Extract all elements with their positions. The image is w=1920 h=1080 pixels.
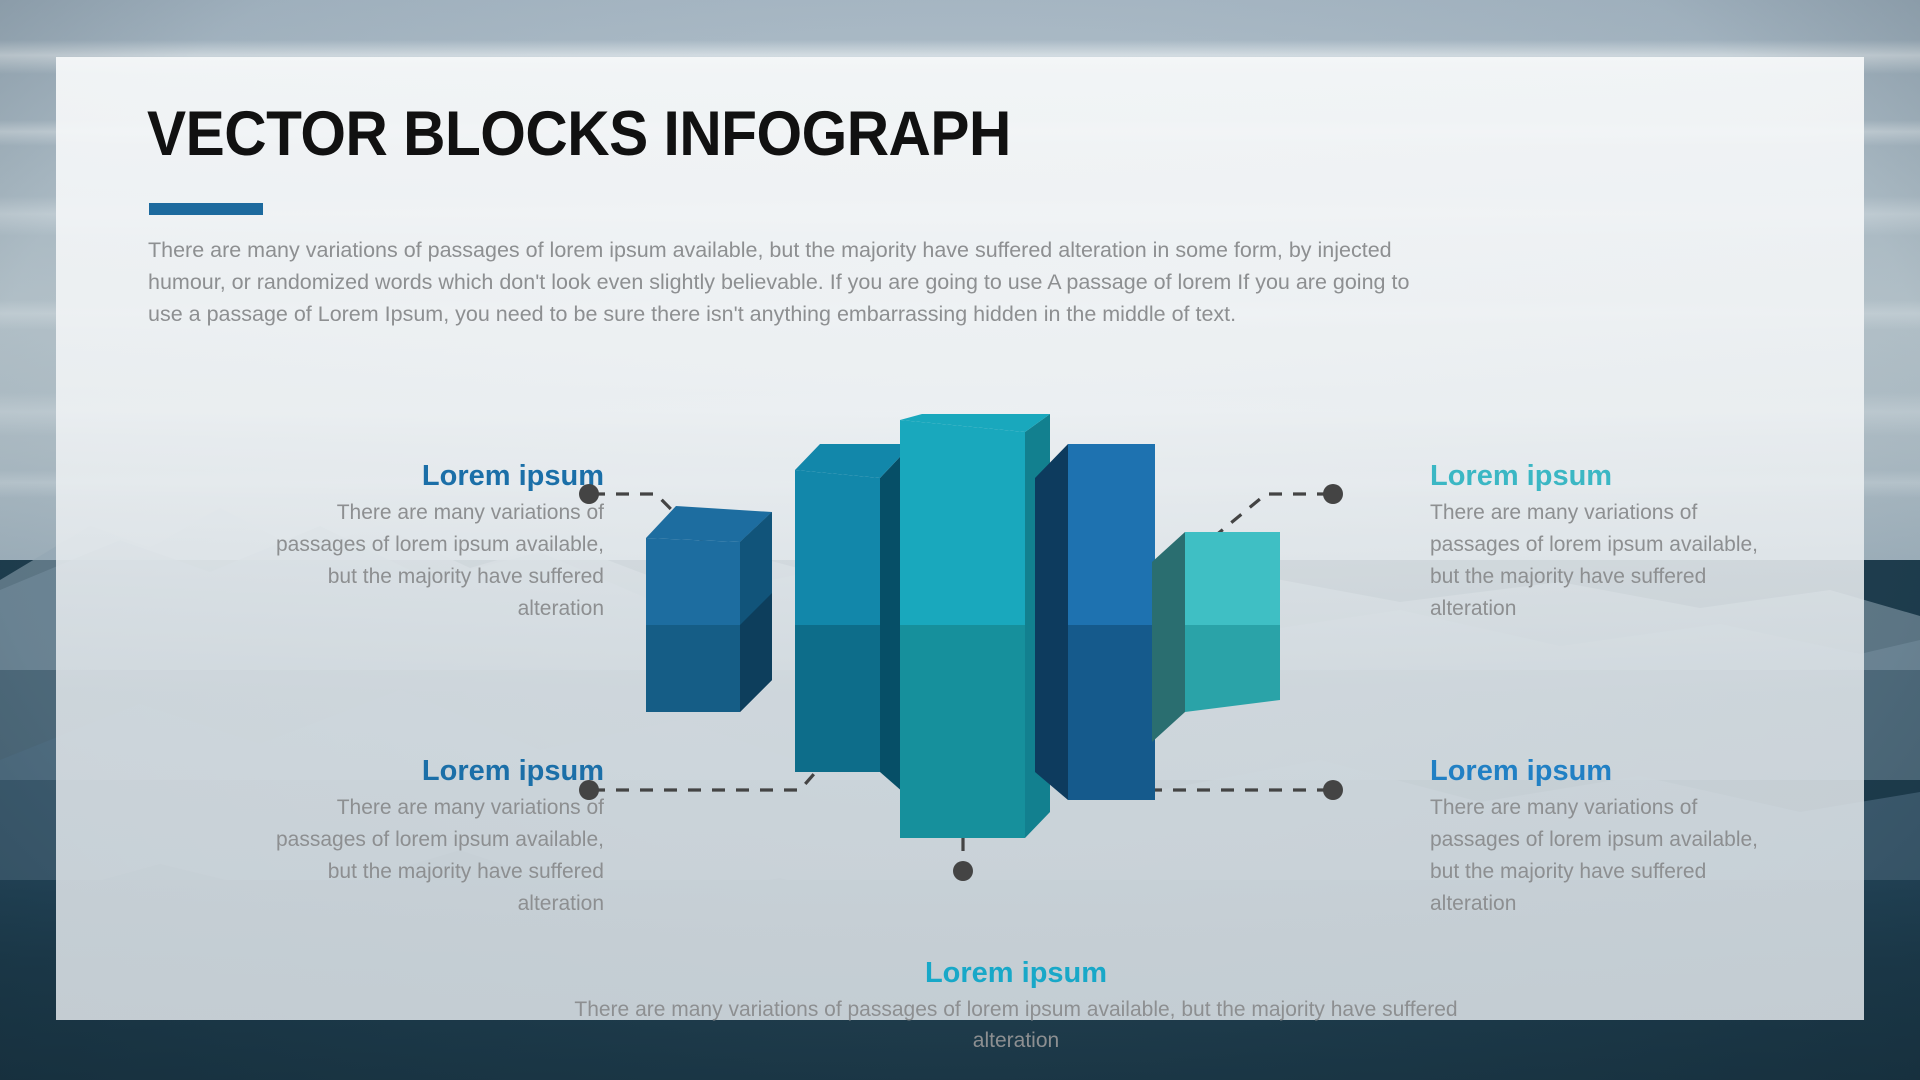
intro-line-3: use a passage of Lorem Ipsum, you need t…: [148, 298, 1779, 330]
intro-line-2: humour, or randomized words which don't …: [148, 266, 1779, 298]
callout-top-left[interactable]: Lorem ipsum There are many variations of…: [254, 461, 604, 625]
callout-bottom-center-heading: Lorem ipsum: [556, 958, 1476, 989]
callout-top-right-body: There are many variations of passages of…: [1430, 497, 1780, 625]
callout-top-left-body: There are many variations of passages of…: [254, 497, 604, 625]
callout-bottom-right[interactable]: Lorem ipsum There are many variations of…: [1430, 756, 1780, 920]
callout-bottom-center-body: There are many variations of passages of…: [556, 994, 1476, 1056]
title-accent-bar: [149, 203, 263, 215]
callout-bottom-left-heading: Lorem ipsum: [254, 756, 604, 787]
content-panel: VECTOR BLOCKS INFOGRAPH There are many v…: [56, 57, 1864, 1020]
callout-top-right-heading: Lorem ipsum: [1430, 461, 1780, 492]
callout-top-left-heading: Lorem ipsum: [254, 461, 604, 492]
callout-top-right[interactable]: Lorem ipsum There are many variations of…: [1430, 461, 1780, 625]
callout-bottom-left-body: There are many variations of passages of…: [254, 792, 604, 920]
callout-bottom-right-body: There are many variations of passages of…: [1430, 792, 1780, 920]
intro-line-1: There are many variations of passages of…: [148, 234, 1779, 266]
callout-bottom-right-heading: Lorem ipsum: [1430, 756, 1780, 787]
callout-bottom-center[interactable]: Lorem ipsum There are many variations of…: [556, 958, 1476, 1056]
intro-paragraph: There are many variations of passages of…: [148, 234, 1779, 330]
page-title: VECTOR BLOCKS INFOGRAPH: [147, 103, 1011, 166]
callout-bottom-left[interactable]: Lorem ipsum There are many variations of…: [254, 756, 604, 920]
